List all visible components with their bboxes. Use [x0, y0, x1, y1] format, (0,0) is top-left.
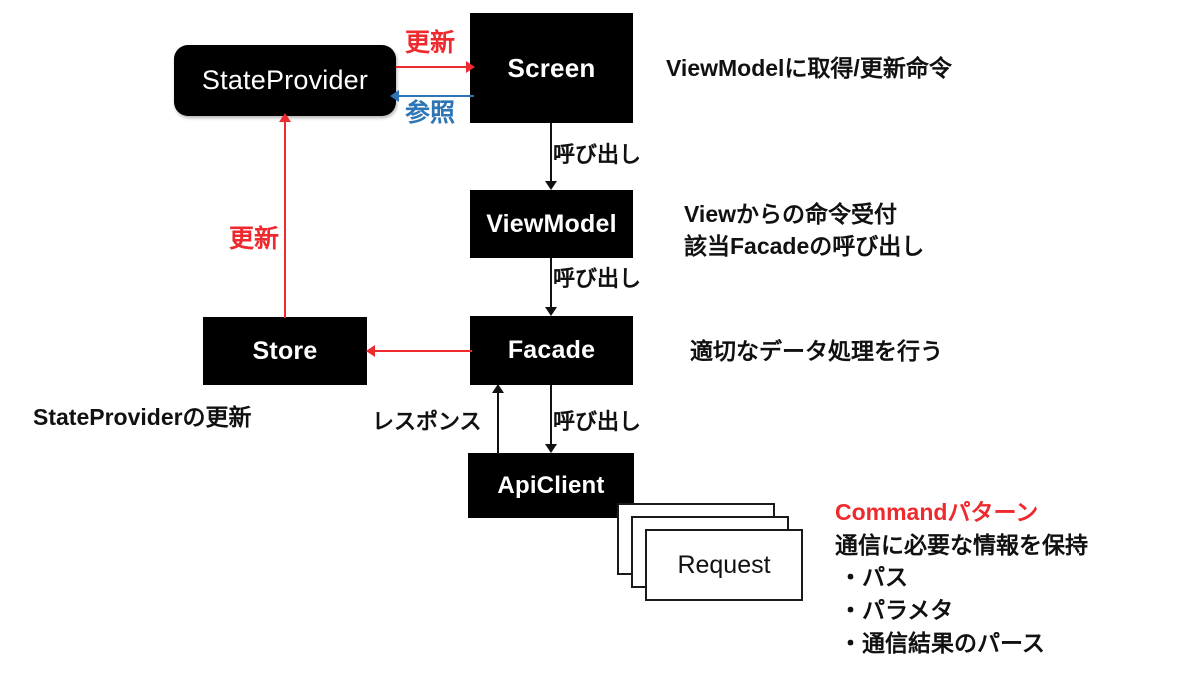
- node-view-model[interactable]: ViewModel: [470, 190, 633, 258]
- node-facade[interactable]: Facade: [470, 316, 633, 385]
- edge-facade-to-store-arrowhead: [366, 345, 375, 357]
- edge-label-call-screen-viewmodel: 呼び出し: [553, 141, 641, 169]
- note-command-pattern: Commandパターン 通信に必要な情報を保持 ・パス ・パラメタ ・通信結果の…: [835, 496, 1088, 659]
- node-store[interactable]: Store: [203, 317, 367, 385]
- node-screen-label: Screen: [508, 55, 596, 81]
- edge-facade-to-apiclient-arrowhead: [545, 444, 557, 453]
- edge-reference-arrowhead: [390, 90, 399, 102]
- edge-viewmodel-to-facade-line: [550, 258, 552, 309]
- node-api-client-label: ApiClient: [497, 474, 604, 498]
- note-command-bullet-1: ・パラメタ: [835, 594, 1088, 627]
- node-store-label: Store: [253, 339, 318, 364]
- node-request[interactable]: Request: [645, 529, 803, 601]
- diagram-canvas: StateProvider Screen ViewModel Facade St…: [0, 0, 1200, 685]
- edge-screen-to-viewmodel-arrowhead: [545, 181, 557, 190]
- edge-screen-to-viewmodel-line: [550, 123, 552, 183]
- node-state-provider-label: StateProvider: [202, 67, 368, 94]
- edge-label-update-left: 更新: [229, 223, 279, 255]
- node-state-provider[interactable]: StateProvider: [174, 45, 396, 116]
- edge-label-reference: 参照: [405, 97, 455, 129]
- note-command-bullet-2: ・通信結果のパース: [835, 627, 1088, 660]
- note-screen: ViewModelに取得/更新命令: [666, 53, 952, 85]
- node-view-model-label: ViewModel: [486, 212, 617, 237]
- edge-apiclient-to-facade-line: [497, 392, 499, 454]
- note-facade: 適切なデータ処理を行う: [690, 336, 943, 368]
- node-api-client[interactable]: ApiClient: [468, 453, 634, 518]
- edge-label-response: レスポンス: [372, 408, 482, 436]
- edge-facade-to-store-line: [374, 350, 472, 352]
- edge-label-call-viewmodel-facade: 呼び出し: [553, 265, 641, 293]
- node-facade-label: Facade: [508, 338, 595, 363]
- edge-store-to-state-provider-line: [284, 120, 286, 318]
- node-screen[interactable]: Screen: [470, 13, 633, 123]
- note-command-bullet-0: ・パス: [835, 561, 1088, 594]
- edge-facade-to-apiclient-line: [550, 385, 552, 445]
- edge-label-update-top: 更新: [405, 27, 455, 59]
- edge-apiclient-to-facade-arrowhead: [492, 384, 504, 393]
- edge-store-to-state-provider-arrowhead: [279, 113, 291, 122]
- edge-label-call-facade-apiclient: 呼び出し: [553, 408, 641, 436]
- edge-update-line: [396, 66, 474, 68]
- note-command-subtitle: 通信に必要な情報を保持: [835, 529, 1088, 562]
- edge-viewmodel-to-facade-arrowhead: [545, 307, 557, 316]
- note-command-title: Commandパターン: [835, 496, 1088, 529]
- node-request-label: Request: [677, 551, 770, 580]
- edge-update-arrowhead: [466, 61, 475, 73]
- note-view-model: Viewからの命令受付 該当Facadeの呼び出し: [684, 199, 924, 262]
- note-store: StateProviderの更新: [33, 402, 252, 434]
